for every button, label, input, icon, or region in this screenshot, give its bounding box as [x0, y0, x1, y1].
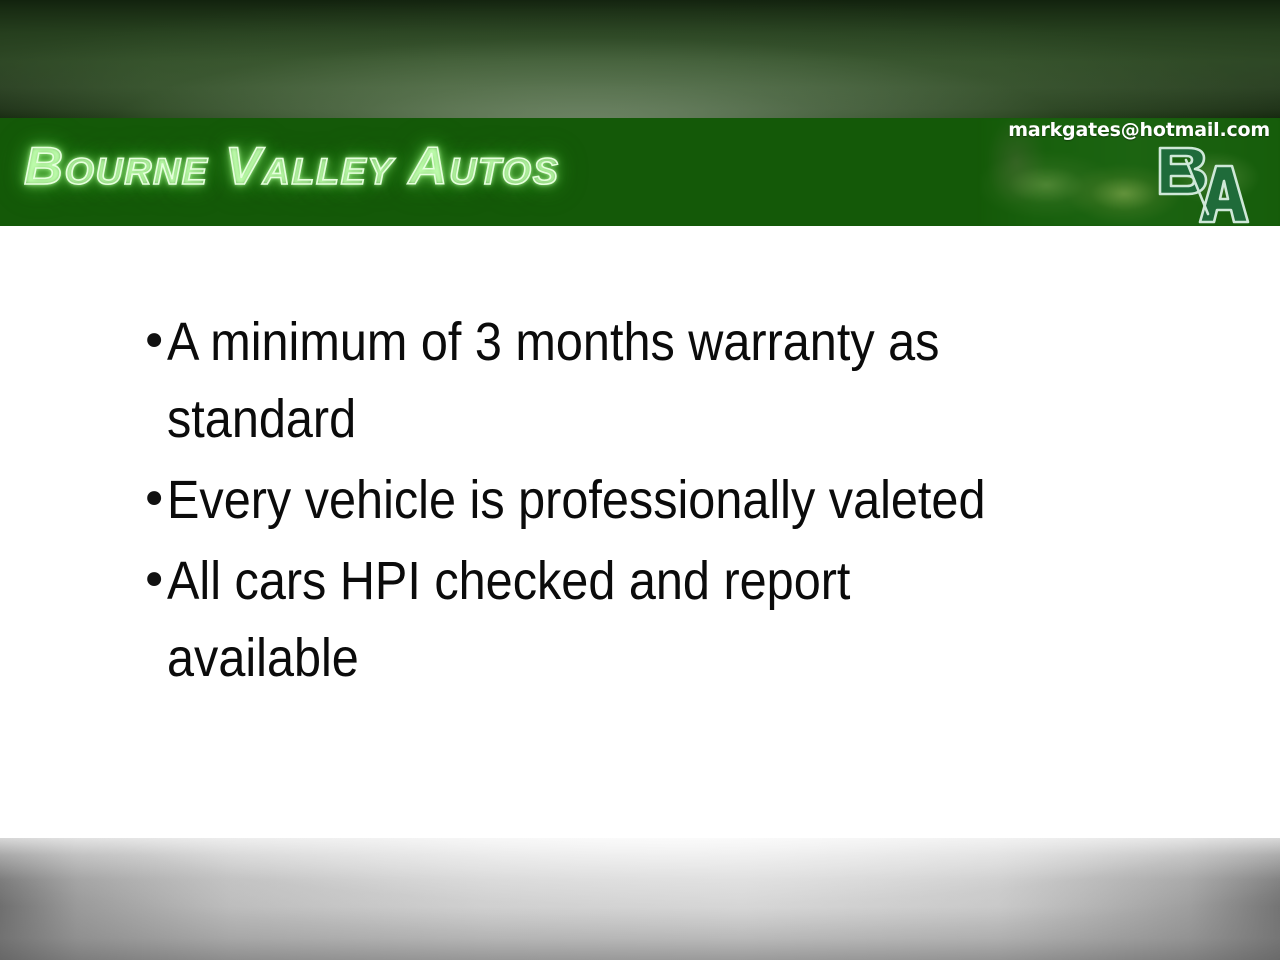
bullet-point-icon: •: [140, 543, 167, 620]
bullet-point-icon: •: [140, 462, 167, 539]
bullet-point-icon: •: [140, 304, 167, 381]
company-logo-wordmark: Bourne Valley Autos: [24, 140, 559, 193]
bullet-text: A minimum of 3 months warranty as standa…: [167, 304, 1052, 458]
contact-email[interactable]: markgates@hotmail.com: [1008, 119, 1270, 141]
slide: Bourne Valley Autos markgates@hotmail.co…: [0, 0, 1280, 960]
bullet-list: • A minimum of 3 months warranty as stan…: [140, 304, 1150, 701]
list-item: • A minimum of 3 months warranty as stan…: [140, 304, 1150, 458]
bottom-gradient-band: [0, 838, 1280, 960]
list-item: • Every vehicle is professionally valete…: [140, 462, 1150, 539]
bullet-text: Every vehicle is professionally valeted: [167, 462, 1052, 539]
bullet-text: All cars HPI checked and report availabl…: [167, 543, 1052, 697]
monogram-letter-b: [1160, 148, 1206, 194]
top-gradient-band: [0, 0, 1280, 118]
banner-photo-fade: [890, 118, 980, 226]
bva-monogram-logo: [1138, 136, 1258, 224]
list-item: • All cars HPI checked and report availa…: [140, 543, 1150, 697]
slide-content: • A minimum of 3 months warranty as stan…: [0, 226, 1280, 838]
